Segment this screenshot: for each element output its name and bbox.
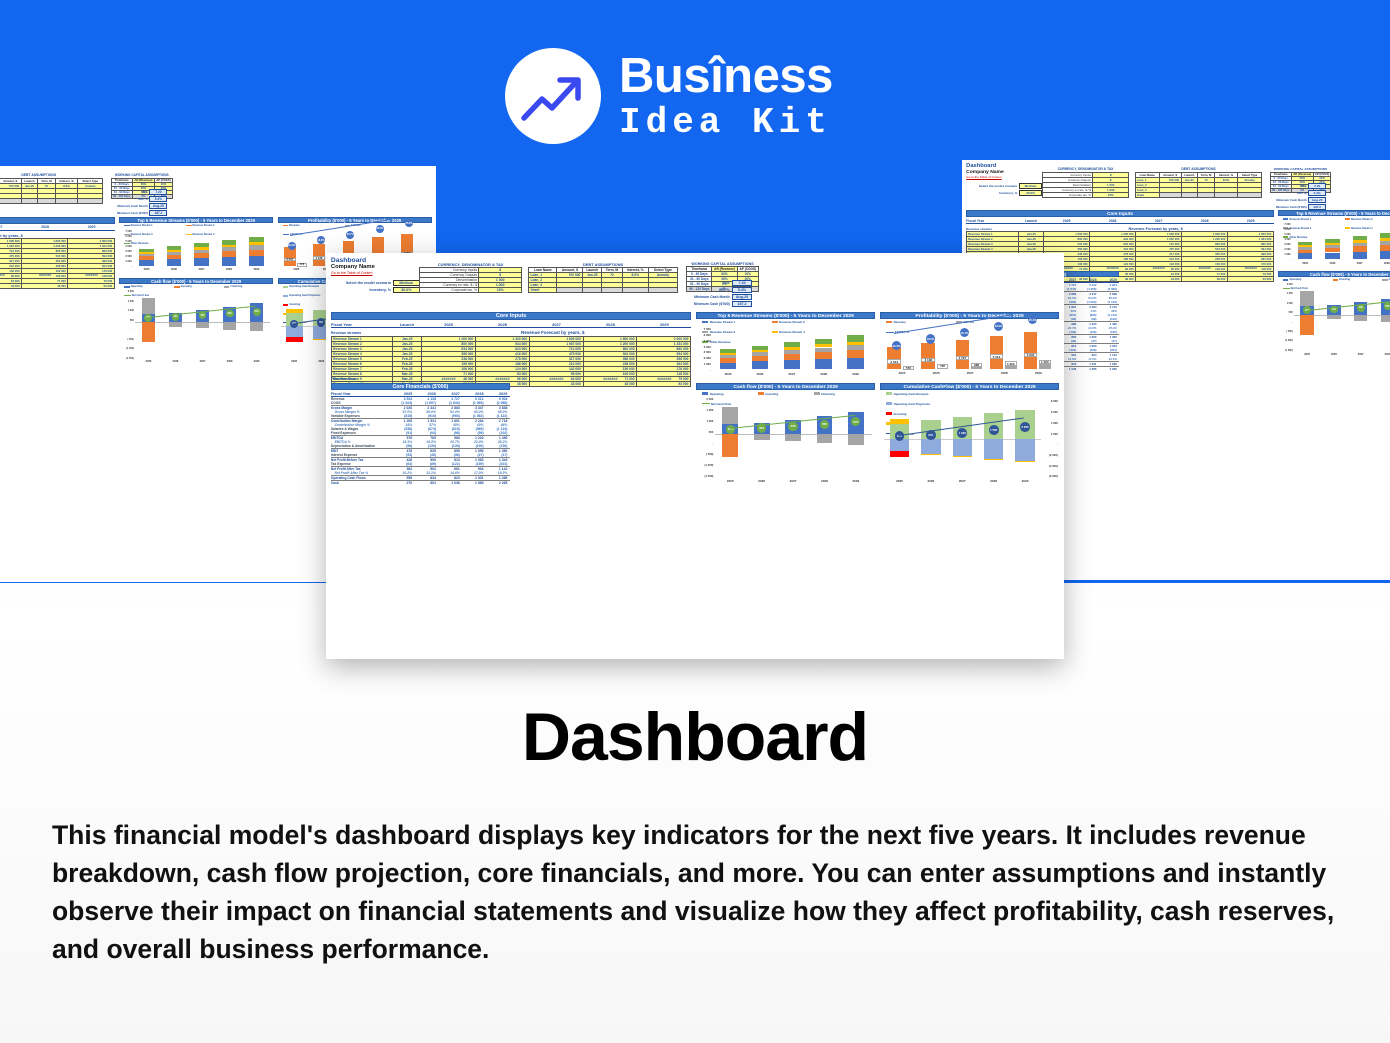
y-axis-tick: 3 000 bbox=[696, 350, 711, 354]
debt-assumptions-panel[interactable]: DEBT ASSUMPTIONSLoan NameAmount, $Launch… bbox=[1135, 167, 1263, 198]
bar-segment bbox=[1380, 241, 1390, 245]
scenario-selectors[interactable]: Select the model scenarioMediumInventory… bbox=[338, 280, 420, 293]
legend-label: Revenue Stream 3 bbox=[710, 330, 735, 334]
bar-segment bbox=[167, 250, 181, 252]
wc-panel-header: WORKING CAPITAL ASSUMPTIONS bbox=[111, 173, 173, 177]
bar-segment bbox=[167, 259, 181, 266]
bar-segment bbox=[194, 243, 208, 247]
debt-cell[interactable] bbox=[55, 199, 78, 204]
financing-bar bbox=[286, 309, 303, 313]
financing-bar bbox=[1327, 315, 1340, 320]
bar-segment bbox=[1380, 238, 1390, 241]
fiscal-year-label: Fiscal Year bbox=[331, 392, 391, 396]
legend-label: Revenue Stream 3 bbox=[131, 233, 153, 236]
bar-segment bbox=[222, 240, 236, 245]
bar-segment bbox=[720, 353, 737, 355]
core-inputs-header: Core Inputs bbox=[331, 312, 691, 320]
ebitda-pct-bubble: 18.5% bbox=[926, 334, 935, 343]
financing-bar bbox=[984, 459, 1003, 460]
x-axis-tick: 2029 bbox=[840, 372, 872, 376]
revenue-stream-value[interactable]: 53 000 bbox=[637, 382, 691, 387]
legend-swatch bbox=[1382, 279, 1387, 281]
revenue-stream-value[interactable]: 43 000 bbox=[0, 283, 22, 288]
legend-item: Net Cash Flow bbox=[124, 294, 160, 297]
table-row: Cash2706011 0361 5852 265 bbox=[331, 481, 510, 486]
legend-swatch bbox=[1283, 288, 1289, 289]
kpi-label: Minimum Cash Month bbox=[694, 295, 730, 299]
dashboard-sheet-center[interactable]: DashboardCompany NameGo to the Table of … bbox=[326, 253, 1064, 659]
top5-revenue-title: Top 5 Revenue Streams ($'000) - 5 Years … bbox=[1278, 210, 1390, 216]
x-axis-tick: 2027 bbox=[188, 268, 215, 271]
inventory-label: Inventory, % bbox=[338, 288, 391, 292]
bar-segment bbox=[1353, 240, 1367, 242]
y-axis-tick: 6 000 bbox=[696, 333, 711, 337]
debt-panel-header: DEBT ASSUMPTIONS bbox=[528, 262, 678, 267]
financial-row-label: Cash bbox=[331, 481, 391, 486]
financing-bar bbox=[890, 419, 909, 424]
kpi-value: 7.20 bbox=[149, 189, 167, 195]
kpi-value: 7.20 bbox=[732, 280, 753, 286]
inventory-value[interactable]: 30.0% bbox=[393, 287, 420, 293]
debt-assumptions-panel[interactable]: DEBT ASSUMPTIONSLoan NameAmount, $Launch… bbox=[528, 262, 678, 294]
legend-label: Revenue Stream 3 bbox=[1290, 227, 1312, 230]
financing-bar bbox=[250, 322, 264, 331]
financial-row-value: 2 265 bbox=[1099, 366, 1119, 371]
net-cash-flow-bubble: 550 bbox=[1384, 302, 1390, 310]
legend-label: Revenue Stream 4 bbox=[779, 330, 804, 334]
legend-swatch bbox=[772, 321, 778, 323]
legend-swatch bbox=[814, 392, 820, 394]
legend-swatch bbox=[886, 321, 892, 323]
x-axis-tick: 2025 bbox=[712, 372, 744, 376]
legend-item: Financing bbox=[224, 285, 260, 288]
legend-label: Operating Cash Payments bbox=[289, 294, 320, 297]
legend-item: Operating bbox=[124, 285, 160, 288]
net-cash-flow-line bbox=[1307, 298, 1390, 310]
financing-bar bbox=[142, 298, 156, 313]
kpi-label: IRR, % bbox=[1297, 191, 1306, 195]
bar-segment bbox=[815, 339, 832, 345]
revenue-bar bbox=[921, 343, 935, 369]
scenario-label: Select the model scenario bbox=[338, 281, 391, 285]
top5-revenue-legend: Revenue Stream 1Revenue Stream 2Revenue … bbox=[1283, 218, 1390, 239]
year-header: 2029 bbox=[1228, 219, 1274, 223]
ebitda-data-label: 1 490 bbox=[1039, 360, 1051, 364]
ebitda-data-label: 576 bbox=[903, 366, 915, 370]
year-header: 2025 bbox=[1044, 219, 1090, 223]
bar-segment bbox=[249, 256, 263, 266]
bar-segment bbox=[167, 255, 181, 260]
total-revenue-value: ####### bbox=[1136, 266, 1182, 270]
y-axis-tick: 7 000 bbox=[696, 327, 711, 331]
legend-swatch bbox=[186, 225, 191, 227]
revenue-bar bbox=[990, 336, 1004, 370]
legend-label: Operating bbox=[1290, 278, 1302, 281]
legend-label: Investing bbox=[765, 392, 778, 396]
top5-revenue-title: Top 5 Revenue Streams ($'000) - 5 Years … bbox=[119, 217, 273, 223]
bar-segment bbox=[1298, 242, 1312, 245]
y-axis-tick: 3 000 bbox=[119, 250, 132, 253]
total-revenue-value: ####### bbox=[22, 273, 68, 277]
legend-label: Investing bbox=[181, 285, 192, 288]
investing-bar bbox=[890, 451, 909, 457]
legend-swatch bbox=[124, 286, 129, 288]
legend-label: Revenue bbox=[289, 224, 300, 227]
legend-label: Revenue Stream 2 bbox=[779, 320, 804, 324]
page-description: This financial model's dashboard display… bbox=[52, 816, 1342, 969]
financial-row-value: 2 265 bbox=[486, 481, 510, 486]
x-axis-tick: 2025 bbox=[1294, 353, 1321, 356]
table-row: Grant bbox=[0, 199, 103, 204]
table-row: Corporate tax, %15% bbox=[420, 288, 522, 293]
currency-row-value[interactable]: 15% bbox=[479, 288, 522, 293]
kpi-label: ROE bbox=[722, 281, 729, 285]
bar-segment bbox=[1380, 233, 1390, 238]
bar-segment bbox=[847, 358, 864, 370]
legend-label: Investing bbox=[1339, 278, 1350, 281]
y-axis-tick: ( 500) bbox=[1279, 330, 1293, 333]
total-revenue-row: Total Revenue###########################… bbox=[331, 377, 691, 381]
kpi-label: Minimum Cash ($'000) bbox=[694, 302, 730, 306]
y-axis-tick: - bbox=[1278, 258, 1291, 261]
revenue-data-label: 4 138 bbox=[921, 358, 935, 362]
y-axis-tick: 5 000 bbox=[1278, 233, 1291, 236]
financing-bar bbox=[754, 434, 770, 439]
bar-segment bbox=[194, 253, 208, 258]
x-axis-tick: 2025 bbox=[282, 268, 311, 271]
bar-segment bbox=[815, 352, 832, 359]
y-axis-tick: 4 000 bbox=[1278, 238, 1291, 241]
legend-item: Revenue Stream 4 bbox=[1345, 227, 1390, 230]
y-axis-tick: (1 000) bbox=[1279, 339, 1293, 342]
legend-item: Revenue Stream 2 bbox=[186, 224, 234, 227]
bar-segment bbox=[1325, 248, 1339, 253]
kpi-value: 7.20 bbox=[1308, 183, 1326, 189]
currency-row-label: Corporate tax, % bbox=[420, 288, 479, 293]
kpi-value: Aug-25 bbox=[149, 203, 167, 209]
bar-segment bbox=[222, 245, 236, 248]
table-row: 0 - 30 Days60%10% bbox=[687, 272, 758, 277]
bar-segment bbox=[1298, 250, 1312, 254]
year-header: 2029 bbox=[637, 322, 691, 327]
table-row: Grant bbox=[529, 288, 678, 293]
legend-swatch bbox=[1345, 227, 1350, 229]
debt-cell[interactable] bbox=[649, 288, 678, 293]
bar-segment bbox=[752, 361, 769, 369]
x-axis-tick: 2029 bbox=[840, 479, 871, 483]
year-header: 2025 bbox=[422, 322, 476, 327]
x-axis-tick: 2028 bbox=[808, 372, 840, 376]
y-axis-tick: 6 000 bbox=[119, 235, 132, 238]
legend-item: Operating bbox=[1283, 278, 1319, 281]
legend-label: Net Cash Flow bbox=[711, 402, 731, 406]
investing-bar bbox=[722, 434, 738, 457]
investing-bar bbox=[142, 322, 156, 342]
x-axis-tick: 2025 bbox=[715, 479, 746, 483]
debt-cell[interactable]: Grant bbox=[1135, 193, 1159, 198]
legend-swatch bbox=[758, 392, 764, 394]
year-header: 2028 bbox=[583, 322, 637, 327]
scenario-value[interactable]: Medium bbox=[1019, 183, 1042, 189]
debt-panel-header: DEBT ASSUMPTIONS bbox=[0, 173, 103, 177]
legend-swatch bbox=[174, 286, 179, 288]
table-of-contents-link[interactable]: Go to the Table of Conten bbox=[966, 175, 1004, 179]
legend-item: Financing bbox=[1382, 278, 1390, 281]
revenue-stream-value[interactable]: 48 000 bbox=[1182, 277, 1228, 282]
bar-segment bbox=[194, 258, 208, 266]
revenue-forecast-header: Revenue Forecast by years, $ bbox=[418, 330, 688, 335]
kpi-value: 5.4% bbox=[149, 196, 167, 202]
dashboard-header: DashboardCompany NameGo to the Table of … bbox=[966, 163, 1004, 179]
debt-cell[interactable] bbox=[622, 288, 649, 293]
wc-panel-header: WORKING CAPITAL ASSUMPTIONS bbox=[686, 262, 758, 266]
y-axis-tick: - bbox=[119, 265, 132, 268]
bar-segment bbox=[1353, 236, 1367, 240]
legend-item: Net Cash Flow bbox=[702, 402, 744, 406]
debt-cell[interactable] bbox=[38, 199, 55, 204]
bar-segment bbox=[720, 358, 737, 363]
y-axis-tick: 1 000 bbox=[1279, 302, 1293, 305]
legend-item: Net Cash Flow bbox=[1283, 287, 1319, 290]
x-axis-tick: 2026 bbox=[1321, 353, 1348, 356]
wc-column-header: AR (Revenue) bbox=[1291, 173, 1313, 177]
wc-column-header: AP (COGS) bbox=[737, 267, 758, 272]
revenue-stream-value[interactable]: 48 000 bbox=[583, 382, 637, 387]
x-axis-tick: 2026 bbox=[1319, 262, 1346, 265]
revenue-stream-value[interactable]: 43 000 bbox=[529, 382, 583, 387]
operating-payments-bar bbox=[953, 439, 972, 457]
total-revenue-label: Total Revenue bbox=[331, 377, 422, 381]
core-inputs-year-header: Fiscal YearLaunch20252026202720282029 bbox=[966, 219, 1274, 225]
top5-revenue-title: Top 5 Revenue Streams ($'000) - 5 Years … bbox=[696, 312, 875, 319]
legend-label: Revenue Stream 4 bbox=[193, 233, 215, 236]
financial-row-value: 601 bbox=[415, 481, 439, 486]
bar-segment bbox=[1325, 245, 1339, 248]
y-axis-tick: 1 000 bbox=[696, 362, 711, 366]
year-header: 2028 bbox=[22, 225, 68, 229]
financial-row-value: 1 585 bbox=[462, 481, 486, 486]
debt-cell[interactable] bbox=[1237, 193, 1261, 198]
kpi-panel: ROE7.20IRR, %5.4%Minimum Cash MonthAug-2… bbox=[694, 280, 753, 307]
table-of-contents-link[interactable]: Go to the Table of Conten bbox=[331, 271, 375, 275]
debt-cell[interactable] bbox=[21, 199, 38, 204]
legend-item: Operating Cash Payments bbox=[886, 402, 969, 406]
x-axis-tick: 2025 bbox=[885, 371, 919, 375]
financing-bar bbox=[1300, 291, 1313, 306]
operating-payments-bar bbox=[1015, 439, 1034, 461]
bar-segment bbox=[847, 350, 864, 358]
year-header: 2027 bbox=[529, 322, 583, 327]
kpi-value: 187.2 bbox=[1308, 204, 1326, 210]
bar-segment bbox=[1353, 243, 1367, 247]
bar-segment bbox=[815, 348, 832, 353]
ebitda-data-label: 1 220 bbox=[1005, 361, 1017, 365]
year-header: 2027 bbox=[0, 225, 22, 229]
x-axis-tick: 2028 bbox=[1373, 262, 1390, 265]
x-axis-tick: 2026 bbox=[915, 479, 946, 483]
revenue-bar bbox=[313, 244, 325, 267]
wc-panel-header: WORKING CAPITAL ASSUMPTIONS bbox=[1270, 167, 1332, 171]
total-revenue-value: ####### bbox=[68, 273, 114, 277]
year-header: 2029 bbox=[68, 225, 114, 229]
financing-bar bbox=[785, 434, 801, 441]
debt-assumptions-panel[interactable]: DEBT ASSUMPTIONSLoan NameAmount, $Launch… bbox=[0, 173, 103, 204]
y-axis-tick: 2 000 bbox=[120, 290, 134, 293]
debt-panel-header: DEBT ASSUMPTIONS bbox=[1135, 167, 1263, 171]
growth-arrow-icon bbox=[505, 48, 601, 144]
fiscal-year-label: Fiscal Year bbox=[331, 322, 392, 327]
kpi-value: 5.4% bbox=[1308, 190, 1326, 196]
scenario-value[interactable]: Medium bbox=[393, 280, 420, 286]
revenue-forecast-table[interactable]: Revenue Stream 1Jan-251 200 0001 400 000… bbox=[0, 238, 115, 289]
currency-denominator-tax-panel[interactable]: CURRENCY, DENOMINATOR & TAXCurrency Inpu… bbox=[419, 262, 522, 294]
x-axis-tick: 2026 bbox=[160, 268, 187, 271]
debt-cell[interactable] bbox=[583, 288, 602, 293]
bar-segment bbox=[847, 335, 864, 341]
bar-segment bbox=[139, 249, 153, 252]
debt-cell[interactable] bbox=[557, 288, 583, 293]
debt-cell[interactable] bbox=[602, 288, 622, 293]
debt-cell[interactable] bbox=[1198, 193, 1215, 198]
x-axis-tick: 2025 bbox=[281, 360, 308, 363]
total-revenue-value: ####### bbox=[422, 377, 476, 381]
core-financials-year-header: Fiscal Year20252026202720282029 bbox=[331, 392, 510, 397]
table-row: 0 - 30 Days60%10% bbox=[1270, 177, 1331, 181]
legend-label: Other Revenue bbox=[131, 242, 149, 245]
legend-label: Revenue bbox=[894, 320, 906, 324]
y-axis-tick: 4 000 bbox=[1041, 421, 1058, 425]
x-axis-tick: 2027 bbox=[776, 372, 808, 376]
legend-swatch bbox=[186, 234, 191, 236]
x-axis-tick: 2029 bbox=[1021, 371, 1055, 375]
total-revenue-value: ####### bbox=[1090, 266, 1136, 270]
bar-segment bbox=[167, 246, 181, 250]
x-axis-tick: 2027 bbox=[947, 479, 978, 483]
y-axis-tick: 1 000 bbox=[120, 309, 134, 312]
total-revenue-value: ####### bbox=[529, 377, 583, 381]
bar-segment bbox=[784, 354, 801, 360]
revenue-bar bbox=[1024, 332, 1038, 369]
core-financials-header: Core Financials ($'000) bbox=[331, 383, 510, 390]
currency-panel-header: CURRENCY, DENOMINATOR & TAX bbox=[419, 262, 522, 267]
x-axis-tick: 2027 bbox=[1347, 353, 1374, 356]
bar-segment bbox=[815, 344, 832, 347]
revenue-stream-value[interactable]: 53 000 bbox=[1227, 277, 1273, 282]
total-revenue-row: Total Revenue###########################… bbox=[0, 273, 115, 277]
revenue-data-label: 3 544 bbox=[887, 359, 901, 363]
legend-swatch bbox=[124, 225, 129, 227]
debt-cell[interactable]: Grant bbox=[529, 288, 557, 293]
brand-tagline: Idea Kit bbox=[619, 105, 833, 141]
y-axis-tick: - bbox=[120, 328, 134, 331]
y-axis-tick: 8 000 bbox=[1041, 399, 1058, 403]
revenue-bar bbox=[887, 347, 901, 369]
x-axis-tick: 2027 bbox=[1346, 262, 1373, 265]
debt-cell[interactable] bbox=[1159, 193, 1181, 198]
x-axis-tick: 2027 bbox=[189, 360, 216, 363]
currency-row-label: Corporate tax, % bbox=[1042, 193, 1092, 198]
legend-label: Revenue Stream 1 bbox=[710, 320, 735, 324]
legend-swatch bbox=[886, 392, 892, 394]
y-axis-tick: 1 500 bbox=[1279, 292, 1293, 295]
legend-swatch bbox=[124, 295, 130, 296]
financing-bar bbox=[722, 407, 738, 425]
operating-payments-bar bbox=[984, 439, 1003, 459]
debt-cell[interactable] bbox=[1215, 193, 1238, 198]
legend-label: Operating bbox=[131, 285, 143, 288]
revenue-stream-value[interactable]: 48 000 bbox=[22, 283, 68, 288]
debt-cell[interactable] bbox=[78, 199, 103, 204]
legend-item: Revenue Stream 4 bbox=[772, 330, 828, 334]
legend-label: Financing bbox=[230, 285, 242, 288]
net-cash-flow-bubble: 435 bbox=[788, 422, 797, 431]
kpi-value: Aug-25 bbox=[732, 294, 753, 300]
legend-label: Operating Cash Receipts bbox=[289, 285, 319, 288]
financial-row-value: 1 585 bbox=[1078, 366, 1098, 371]
revenue-stream-value[interactable]: 53 000 bbox=[68, 283, 114, 288]
total-revenue-value: ####### bbox=[476, 377, 530, 381]
core-inputs-year-header: Fiscal YearLaunch20252026202720282029 bbox=[331, 322, 691, 329]
currency-panel-header: CURRENCY, DENOMINATOR & TAX bbox=[1042, 167, 1130, 171]
brand-name: Busîness bbox=[619, 52, 833, 101]
scenario-selectors[interactable]: Select the model scenarioMediumInventory… bbox=[972, 183, 1042, 196]
kpi-label: Minimum Cash ($'000) bbox=[117, 211, 148, 215]
y-axis-tick: 500 bbox=[1279, 311, 1293, 314]
revenue-data-label: 5 904 bbox=[1024, 353, 1038, 357]
company-name: Company Name bbox=[331, 264, 375, 270]
legend-swatch bbox=[1283, 218, 1288, 220]
kpi-value: 5.4% bbox=[732, 287, 753, 293]
investing-bar bbox=[1300, 315, 1313, 335]
bar-segment bbox=[249, 245, 263, 249]
x-axis-tick: 2027 bbox=[953, 371, 987, 375]
year-header: 2025 bbox=[391, 392, 415, 396]
bar-segment bbox=[784, 350, 801, 354]
legend-item: Revenue Stream 1 bbox=[1283, 218, 1330, 221]
debt-cell[interactable] bbox=[0, 199, 21, 204]
y-axis-tick: 2 000 bbox=[1279, 283, 1293, 286]
bar-segment bbox=[1380, 251, 1390, 260]
wc-column-header: AR (Revenue) bbox=[712, 267, 738, 272]
y-axis-tick: 4 000 bbox=[119, 245, 132, 248]
debt-cell[interactable] bbox=[1181, 193, 1197, 198]
y-axis-tick: - bbox=[697, 441, 713, 445]
y-axis-tick: 5 000 bbox=[696, 339, 711, 343]
currency-row-value[interactable]: 15% bbox=[1092, 193, 1129, 198]
y-axis-tick: 3 000 bbox=[1278, 243, 1291, 246]
scenario-label: Select the model scenario bbox=[972, 184, 1017, 188]
x-axis-tick: 2028 bbox=[215, 268, 242, 271]
cash-flow-title: Cash flow ($'000) - 5 Years to December … bbox=[119, 278, 273, 284]
bar-segment bbox=[1298, 253, 1312, 259]
y-axis-tick: - bbox=[1041, 442, 1058, 446]
revenue-streams-label: Revenue streams bbox=[331, 331, 361, 335]
inventory-value[interactable]: 30.0% bbox=[1019, 190, 1042, 196]
legend-item: Revenue bbox=[886, 320, 942, 324]
cumulative-cashflow-title: Cumulative CashFlow ($'000) - 5 Years to… bbox=[880, 383, 1059, 390]
legend-swatch bbox=[772, 331, 778, 333]
legend-label: Net Cash Flow bbox=[1291, 287, 1308, 290]
bar-segment bbox=[222, 251, 236, 257]
currency-denominator-tax-panel[interactable]: CURRENCY, DENOMINATOR & TAXCurrency Inpu… bbox=[1042, 167, 1130, 198]
y-axis-tick: 2 000 bbox=[119, 255, 132, 258]
revenue-stream-value[interactable]: 43 000 bbox=[1136, 277, 1182, 282]
year-header: 2026 bbox=[415, 392, 439, 396]
x-axis-tick: 2028 bbox=[809, 479, 840, 483]
legend-item: Financing bbox=[814, 392, 856, 396]
legend-item: Investing bbox=[758, 392, 800, 396]
kpi-label: Minimum Cash Month bbox=[117, 204, 148, 208]
